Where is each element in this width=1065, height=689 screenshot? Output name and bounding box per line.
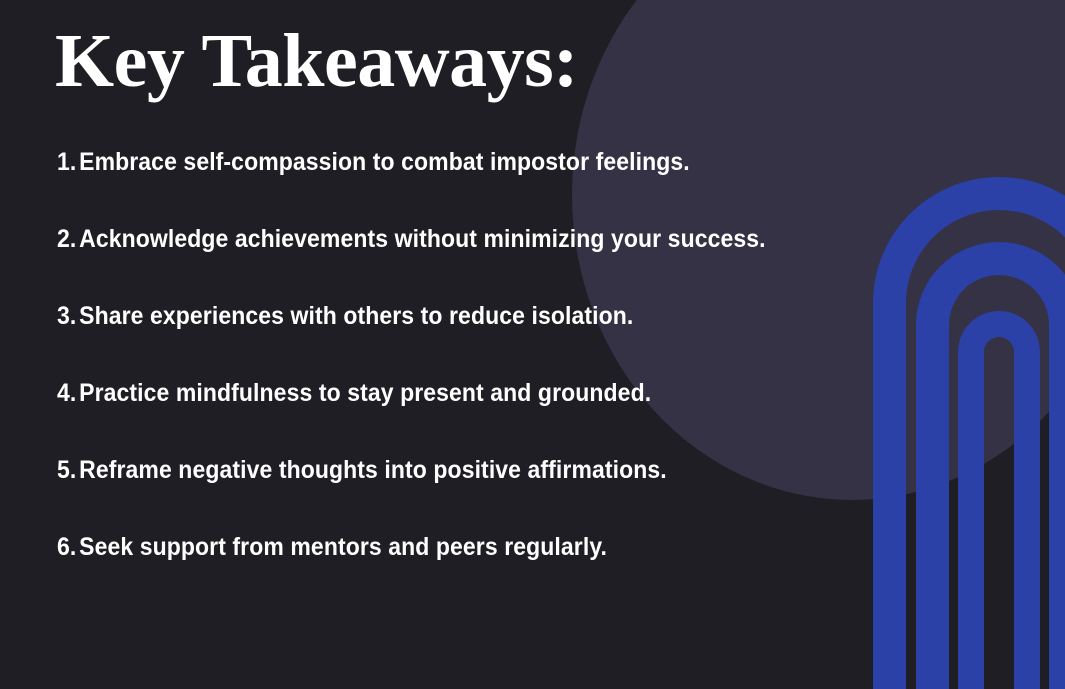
- list-item: 3.Share experiences with others to reduc…: [57, 304, 846, 329]
- takeaways-list: 1.Embrace self-compassion to combat impo…: [57, 150, 915, 560]
- slide-content: Key Takeaways: 1.Embrace self-compassion…: [0, 0, 1065, 689]
- list-item: 6.Seek support from mentors and peers re…: [57, 535, 846, 560]
- list-item-text: Acknowledge achievements without minimiz…: [79, 225, 765, 253]
- list-item: 4.Practice mindfulness to stay present a…: [57, 381, 846, 406]
- list-item: 2.Acknowledge achievements without minim…: [57, 227, 846, 252]
- list-item-text: Share experiences with others to reduce …: [79, 302, 633, 330]
- list-item-text: Reframe negative thoughts into positive …: [79, 456, 667, 484]
- list-item-number: 3.: [57, 302, 76, 330]
- list-item-number: 6.: [57, 533, 76, 561]
- list-item: 1.Embrace self-compassion to combat impo…: [57, 150, 846, 175]
- list-item-number: 1.: [57, 148, 76, 176]
- list-item-number: 4.: [57, 379, 76, 407]
- list-item-text: Embrace self-compassion to combat impost…: [79, 148, 690, 176]
- slide-canvas: Key Takeaways: 1.Embrace self-compassion…: [0, 0, 1065, 689]
- list-item-number: 5.: [57, 456, 76, 484]
- list-item-number: 2.: [57, 225, 76, 253]
- page-title: Key Takeaways:: [55, 22, 578, 102]
- list-item-text: Seek support from mentors and peers regu…: [79, 533, 607, 561]
- list-item-text: Practice mindfulness to stay present and…: [79, 379, 651, 407]
- list-item: 5.Reframe negative thoughts into positiv…: [57, 458, 846, 483]
